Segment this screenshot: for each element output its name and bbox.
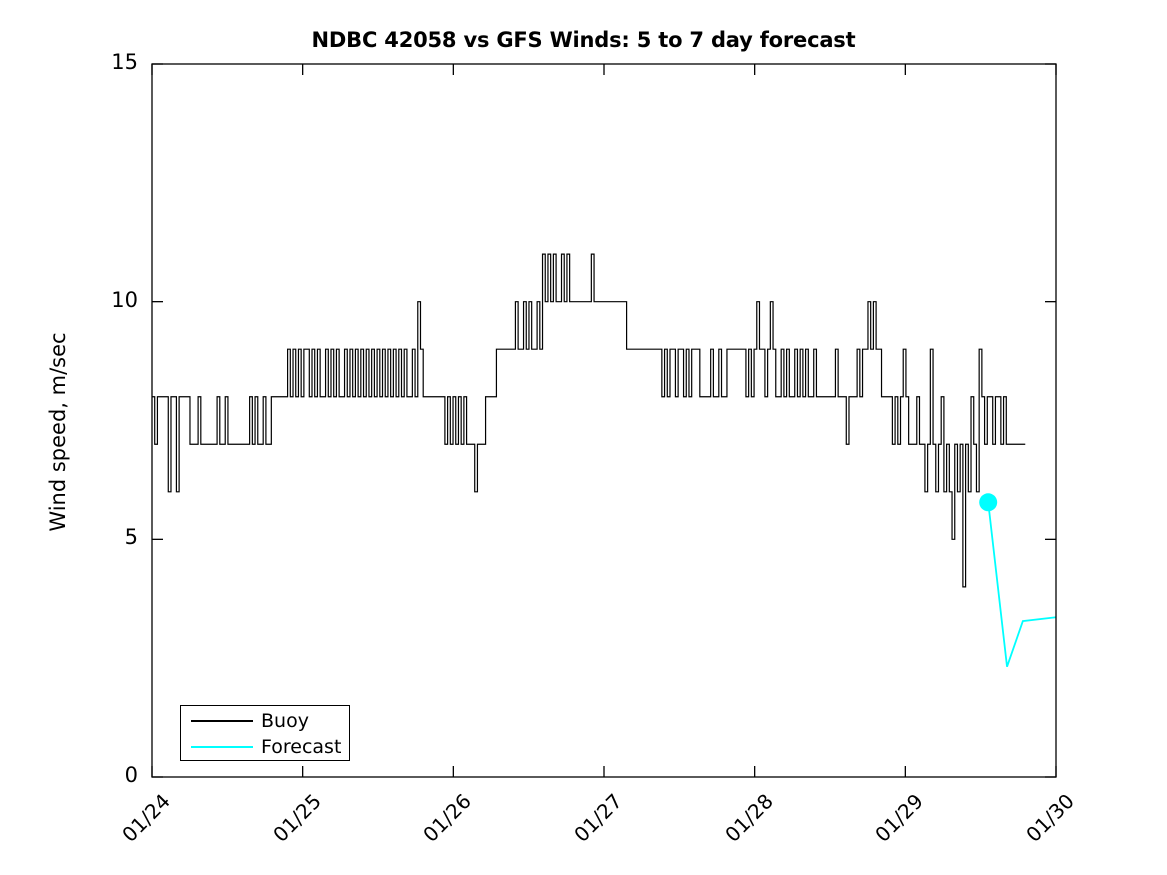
legend-label-forecast: Forecast [261, 734, 341, 760]
chart-legend: Buoy Forecast [180, 705, 350, 761]
chart-figure: NDBC 42058 vs GFS Winds: 5 to 7 day fore… [0, 0, 1167, 875]
legend-swatch-forecast [191, 746, 253, 748]
forecast-start-marker [979, 493, 997, 511]
y-tick-label: 0 [78, 763, 138, 787]
plot-background [152, 64, 1056, 777]
plot-canvas [0, 0, 1167, 875]
y-tick-label: 5 [78, 525, 138, 549]
legend-item-forecast: Forecast [181, 733, 351, 761]
y-tick-label: 15 [78, 50, 138, 74]
y-axis-label: Wind speed, m/sec [46, 282, 70, 582]
legend-swatch-buoy [191, 720, 253, 722]
legend-item-buoy: Buoy [181, 707, 351, 735]
y-tick-label: 10 [78, 288, 138, 312]
legend-label-buoy: Buoy [261, 708, 309, 734]
